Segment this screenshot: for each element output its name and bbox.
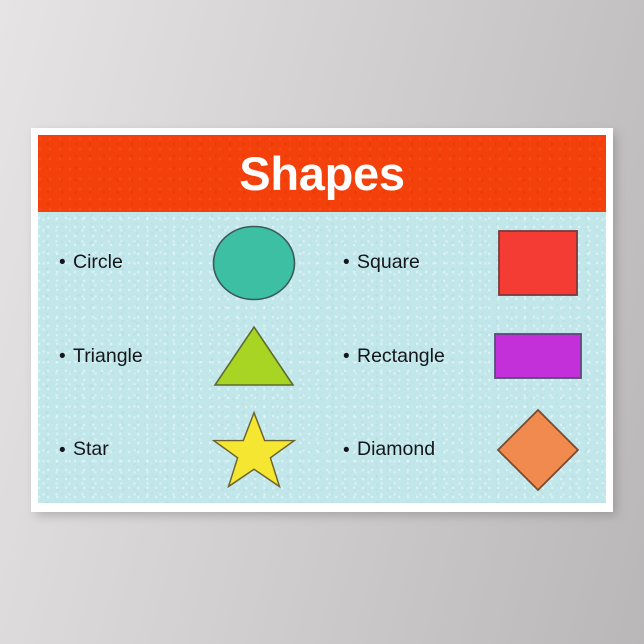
label-group-square: • Square xyxy=(322,252,470,273)
bullet-icon: • xyxy=(343,347,357,366)
bullet-icon: • xyxy=(59,441,73,460)
diamond-shape-icon xyxy=(496,408,580,492)
list-item-diamond: • Diamond xyxy=(322,403,606,497)
shape-label-triangle: Triangle xyxy=(73,346,143,367)
shape-slot-triangle xyxy=(186,310,322,404)
bullet-icon: • xyxy=(59,253,73,272)
poster-canvas: Shapes • Circle xyxy=(38,135,606,503)
shape-label-rectangle: Rectangle xyxy=(357,346,445,367)
triangle-shape-icon xyxy=(213,325,295,387)
star-shape-icon xyxy=(211,411,297,489)
page-title: Shapes xyxy=(239,150,404,197)
shape-label-square: Square xyxy=(357,252,420,273)
shape-slot-square xyxy=(470,216,606,310)
bullet-icon: • xyxy=(343,253,357,272)
list-item-star: • Star xyxy=(38,403,322,497)
label-group-circle: • Circle xyxy=(38,252,186,273)
shape-slot-diamond xyxy=(470,403,606,497)
shape-slot-rectangle xyxy=(470,310,606,404)
shape-label-star: Star xyxy=(73,439,109,460)
poster: Shapes • Circle xyxy=(31,128,613,512)
rectangle-shape-icon xyxy=(494,333,582,379)
label-group-star: • Star xyxy=(38,439,186,460)
list-item-square: • Square xyxy=(322,216,606,310)
shape-list: • Circle • Square xyxy=(38,212,606,503)
shape-label-diamond: Diamond xyxy=(357,439,435,460)
bullet-icon: • xyxy=(59,347,73,366)
label-group-diamond: • Diamond xyxy=(322,439,470,460)
label-group-rectangle: • Rectangle xyxy=(322,346,470,367)
shape-label-circle: Circle xyxy=(73,252,123,273)
label-group-triangle: • Triangle xyxy=(38,346,186,367)
list-item-rectangle: • Rectangle xyxy=(322,310,606,404)
square-shape-icon xyxy=(498,230,578,296)
title-banner: Shapes xyxy=(38,135,606,212)
shape-slot-circle xyxy=(186,216,322,310)
shape-slot-star xyxy=(186,403,322,497)
circle-shape-icon xyxy=(212,225,296,301)
bullet-icon: • xyxy=(343,441,357,460)
list-item-triangle: • Triangle xyxy=(38,310,322,404)
list-item-circle: • Circle xyxy=(38,216,322,310)
poster-backdrop: Shapes • Circle xyxy=(0,0,644,644)
